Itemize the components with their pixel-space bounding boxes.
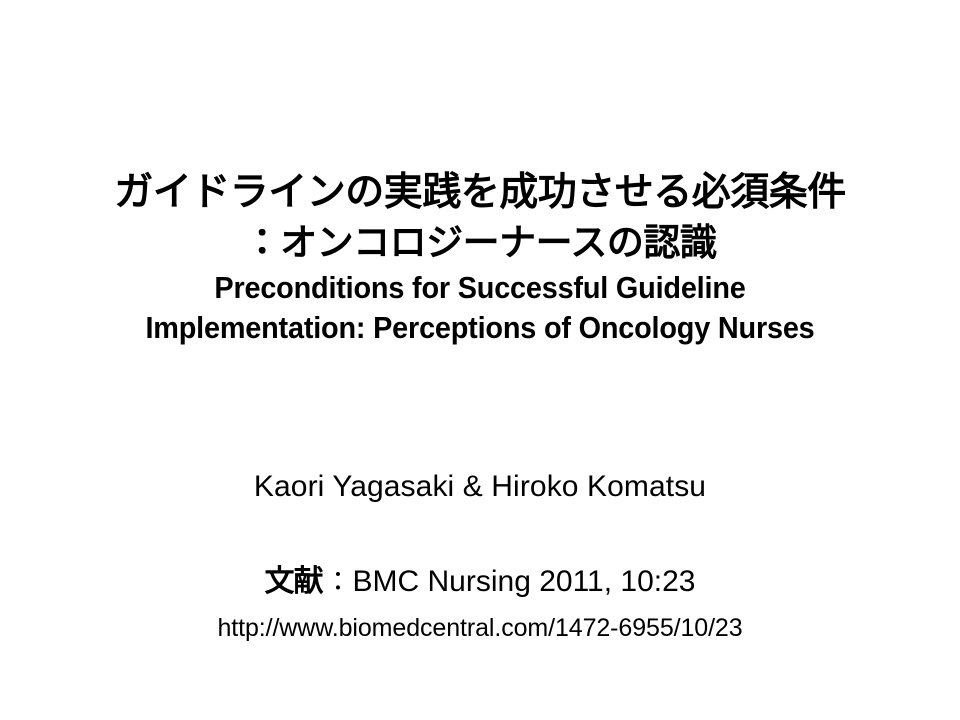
- reference-separator: ：: [323, 567, 353, 597]
- author-names: Kaori Yagasaki & Hiroko Komatsu: [0, 468, 960, 506]
- title-english-line-2: Implementation: Perceptions of Oncology …: [34, 308, 927, 348]
- reference-url-link[interactable]: http://www.biomedcentral.com/1472-6955/1…: [0, 612, 960, 644]
- title-japanese-line-2: ：オンコロジーナースの認識: [0, 218, 960, 268]
- reference-citation: BMC Nursing 2011, 10:23: [353, 565, 696, 598]
- reference-block: 文献：BMC Nursing 2011, 10:23 http://www.bi…: [0, 562, 960, 644]
- title-japanese-line-1: ガイドラインの実践を成功させる必須条件: [0, 168, 960, 218]
- author-block: Kaori Yagasaki & Hiroko Komatsu: [0, 468, 960, 506]
- title-slide: ガイドラインの実践を成功させる必須条件 ：オンコロジーナースの認識 Precon…: [0, 0, 960, 720]
- reference-citation-line: 文献：BMC Nursing 2011, 10:23: [0, 562, 960, 602]
- title-block: ガイドラインの実践を成功させる必須条件 ：オンコロジーナースの認識 Precon…: [0, 168, 960, 348]
- reference-label: 文献: [265, 564, 323, 599]
- title-english-line-1: Preconditions for Successful Guideline: [34, 268, 927, 308]
